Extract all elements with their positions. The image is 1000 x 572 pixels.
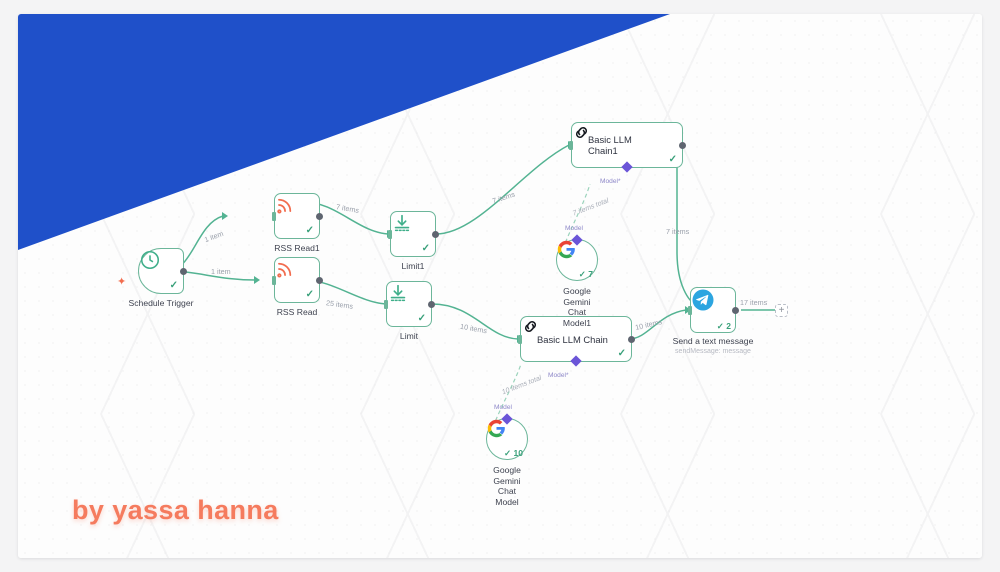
edge-label-trigger-to-rss: 1 item [211, 267, 231, 276]
workflow-canvas[interactable]: ✦ ✓ Schedule Trigger [18, 14, 982, 558]
status-check: ✓ [306, 226, 314, 236]
screenshot-root: ✦ ✓ Schedule Trigger [0, 0, 1000, 572]
node-label: Google Gemini Chat Model [493, 465, 521, 507]
signature-text: by yassa hanna [72, 495, 279, 526]
rss-icon [275, 194, 296, 215]
clock-icon [139, 249, 161, 271]
label-chain1-model-port: Model* [600, 178, 621, 185]
node-google-gemini-chat-model[interactable]: ✓ 10 Google Gemini Chat Model [486, 418, 528, 460]
output-port[interactable] [679, 142, 686, 149]
node-label: Schedule Trigger [129, 298, 194, 309]
chain-link-icon [572, 123, 591, 142]
node-label: Basic LLM Chain [537, 334, 608, 345]
output-port[interactable] [732, 307, 739, 314]
limit-icon [391, 212, 413, 234]
status-check: ✓ [418, 314, 426, 324]
node-label: RSS Read1 [274, 243, 319, 254]
node-schedule-trigger[interactable]: ✓ Schedule Trigger [138, 248, 184, 294]
workflow-card: ✦ ✓ Schedule Trigger [18, 14, 982, 558]
edge-label-telegram-to-plus: 17 items [740, 298, 767, 307]
status-check: ✓ [170, 281, 178, 291]
node-label: Google Gemini Chat Model1 [563, 286, 591, 328]
node-google-gemini-chat-model1[interactable]: ✓ 7 Google Gemini Chat Model1 [556, 239, 598, 281]
output-port[interactable] [316, 213, 323, 220]
node-label: Limit1 [402, 261, 425, 272]
node-label: Basic LLM Chain1 [588, 134, 632, 156]
status-check: ✓ [618, 349, 626, 359]
status-check: ✓ 2 [717, 321, 731, 331]
status-check: ✓ [669, 155, 677, 165]
limit-icon [387, 282, 409, 304]
node-rss-read1[interactable]: ✓ RSS Read1 [274, 193, 320, 239]
node-label: Limit [400, 331, 418, 342]
output-port[interactable] [432, 231, 439, 238]
edge-label-chain1-to-telegram: 7 items [666, 227, 689, 236]
google-icon [557, 240, 576, 259]
status-check: ✓ [422, 244, 430, 254]
add-node-button[interactable]: + [775, 304, 788, 317]
node-limit[interactable]: ✓ Limit [386, 281, 432, 327]
node-label: Send a text message [673, 336, 754, 347]
node-basic-llm-chain1[interactable]: Basic LLM Chain1 ✓ [571, 122, 683, 168]
output-port[interactable] [628, 336, 635, 343]
output-port[interactable] [180, 268, 187, 275]
label-gemini-model-port: Model [494, 404, 512, 411]
google-icon [487, 419, 506, 438]
status-check: ✓ 7 [579, 269, 593, 279]
node-label: RSS Read [277, 307, 318, 318]
sparkle-icon: ✦ [117, 277, 126, 288]
status-check: ✓ [306, 290, 314, 300]
status-check: ✓ 10 [504, 448, 523, 458]
chain-link-icon [521, 317, 540, 336]
output-port[interactable] [316, 277, 323, 284]
node-limit1[interactable]: ✓ Limit1 [390, 211, 436, 257]
telegram-icon [691, 288, 715, 312]
rss-icon [275, 258, 296, 279]
node-rss-read[interactable]: ✓ RSS Read [274, 257, 320, 303]
label-chain-model-port: Model* [548, 372, 569, 379]
label-gemini1-model-port: Model [565, 225, 583, 232]
node-send-a-text-message[interactable]: ✓ 2 Send a text message sendMessage: mes… [690, 287, 736, 333]
output-port[interactable] [428, 301, 435, 308]
node-subtitle: sendMessage: message [675, 347, 751, 356]
